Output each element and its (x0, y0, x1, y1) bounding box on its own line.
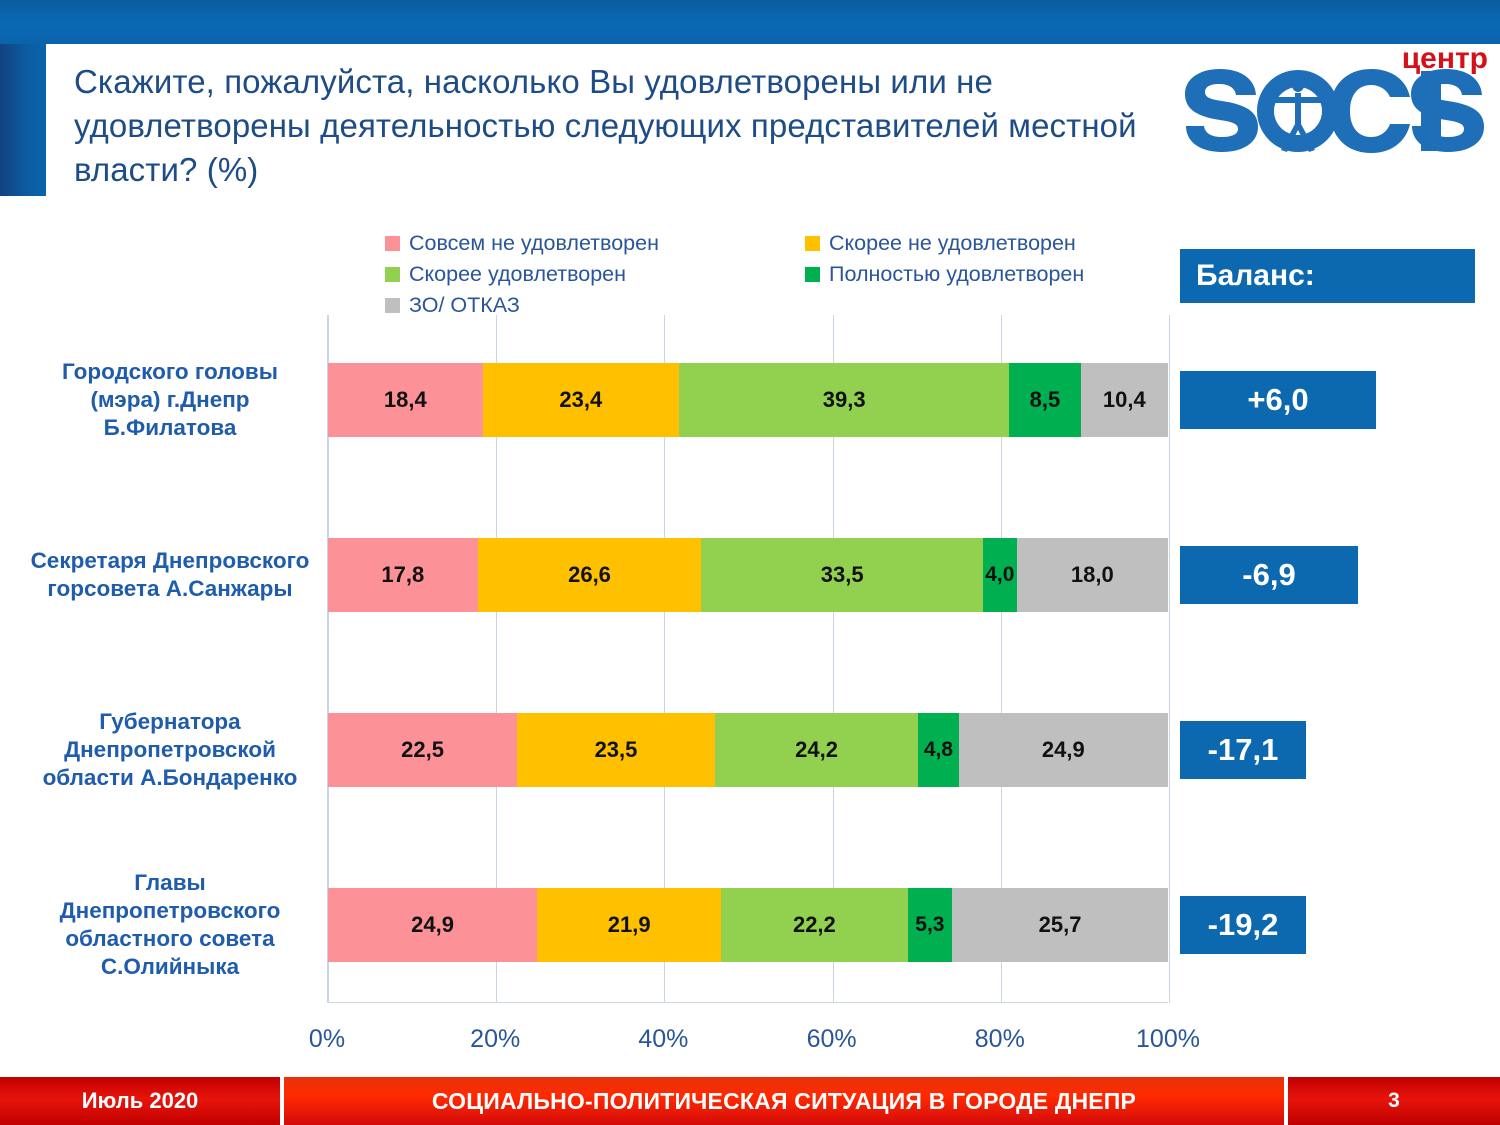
bar-row: 22,523,524,24,824,9 (328, 713, 1168, 787)
bar-segment[interactable]: 18,0 (1017, 538, 1168, 612)
bar-segment[interactable]: 25,7 (952, 888, 1168, 962)
footer-page-number: 3 (1288, 1077, 1500, 1125)
bar-segment[interactable]: 24,2 (715, 713, 918, 787)
bar-segment[interactable]: 10,4 (1081, 363, 1168, 437)
category-label: Главы Днепропетровского областного совет… (25, 869, 315, 981)
legend-item-3[interactable]: Полностью удовлетворен (805, 262, 1165, 287)
x-axis-tick-label: 60% (807, 1025, 857, 1054)
balance-value: +6,0 (1180, 371, 1376, 429)
balance-value: -19,2 (1180, 896, 1306, 954)
chart-legend: Совсем не удовлетворен Скорее не удовлет… (385, 228, 1165, 321)
bar-segment[interactable]: 17,8 (328, 538, 478, 612)
x-axis-tick-label: 80% (975, 1025, 1025, 1054)
legend-swatch-icon (805, 236, 820, 251)
legend-label: Скорее удовлетворен (409, 262, 626, 287)
legend-swatch-icon (385, 267, 400, 282)
legend-label: Совсем не удовлетворен (409, 231, 659, 256)
chart-plot-area: 18,423,439,38,510,417,826,633,54,018,022… (327, 315, 1168, 1003)
legend-swatch-icon (385, 236, 400, 251)
x-axis-tick-label: 40% (638, 1025, 688, 1054)
legend-swatch-icon (385, 298, 400, 313)
bar-segment[interactable]: 22,5 (328, 713, 517, 787)
legend-label: Полностью удовлетворен (829, 262, 1084, 287)
footer-title: СОЦИАЛЬНО-ПОЛИТИЧЕСКАЯ СИТУАЦИЯ В ГОРОДЕ… (280, 1077, 1288, 1125)
bar-segment[interactable]: 22,2 (721, 888, 907, 962)
legend-item-0[interactable]: Совсем не удовлетворен (385, 231, 805, 256)
bar-segment[interactable]: 24,9 (959, 713, 1168, 787)
bar-segment[interactable]: 23,5 (517, 713, 715, 787)
balance-value: -6,9 (1180, 546, 1358, 604)
bar-segment[interactable]: 8,5 (1009, 363, 1080, 437)
header-accent-bar (0, 0, 1500, 44)
gridline-100 (1169, 315, 1170, 1003)
legend-swatch-icon (805, 267, 820, 282)
bar-segment[interactable]: 39,3 (679, 363, 1009, 437)
bar-row: 17,826,633,54,018,0 (328, 538, 1168, 612)
legend-item-2[interactable]: Скорее удовлетворен (385, 262, 805, 287)
x-axis-tick-label: 0% (309, 1025, 345, 1054)
sidebar-accent-bar (0, 44, 46, 196)
slide-title: Скажите, пожалуйста, насколько Вы удовле… (74, 60, 1154, 192)
socis-logo: центр (1178, 48, 1494, 158)
legend-item-1[interactable]: Скорее не удовлетворен (805, 231, 1165, 256)
chart-baseline (327, 1002, 1168, 1003)
bar-segment[interactable]: 26,6 (478, 538, 702, 612)
bar-segment[interactable]: 33,5 (701, 538, 983, 612)
bar-segment[interactable]: 4,0 (983, 538, 1017, 612)
balance-column-header: Баланс: (1180, 249, 1475, 303)
footer-date: Июль 2020 (0, 1077, 280, 1125)
bar-segment[interactable]: 21,9 (537, 888, 721, 962)
slide-footer: Июль 2020 СОЦИАЛЬНО-ПОЛИТИЧЕСКАЯ СИТУАЦИ… (0, 1077, 1500, 1125)
category-label: Секретаря Днепровского горсовета А.Санжа… (25, 547, 315, 603)
logo-socis-wordmark (1178, 64, 1494, 158)
bar-segment[interactable]: 23,4 (483, 363, 680, 437)
bar-segment[interactable]: 5,3 (908, 888, 953, 962)
category-label: Городского головы (мэра) г.Днепр Б.Филат… (25, 358, 315, 442)
x-axis-ticks: 0%20%40%60%80%100% (327, 1025, 1168, 1059)
x-axis-tick-label: 20% (470, 1025, 520, 1054)
x-axis-tick-label: 100% (1136, 1025, 1200, 1054)
balance-value: -17,1 (1180, 721, 1306, 779)
legend-label: Скорее не удовлетворен (829, 231, 1076, 256)
category-label: Губернатора Днепропетровской области А.Б… (25, 708, 315, 792)
bar-row: 18,423,439,38,510,4 (328, 363, 1168, 437)
bar-row: 24,921,922,25,325,7 (328, 888, 1168, 962)
bar-segment[interactable]: 24,9 (328, 888, 537, 962)
bar-segment[interactable]: 4,8 (918, 713, 958, 787)
bar-segment[interactable]: 18,4 (328, 363, 483, 437)
